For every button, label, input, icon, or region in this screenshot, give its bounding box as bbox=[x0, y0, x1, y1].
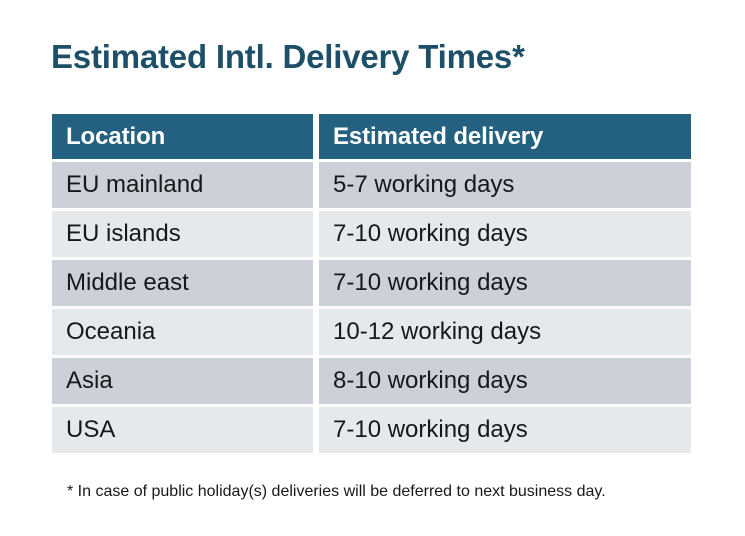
table-row: Oceania 10-12 working days bbox=[52, 309, 691, 355]
cell-location: Middle east bbox=[52, 260, 313, 306]
cell-location: USA bbox=[52, 407, 313, 453]
cell-estimated-delivery: 7-10 working days bbox=[319, 260, 691, 306]
column-header-estimated-delivery: Estimated delivery bbox=[319, 114, 691, 159]
cell-location: EU mainland bbox=[52, 162, 313, 208]
page-title: Estimated Intl. Delivery Times* bbox=[51, 36, 525, 78]
cell-estimated-delivery: 8-10 working days bbox=[319, 358, 691, 404]
cell-estimated-delivery: 7-10 working days bbox=[319, 211, 691, 257]
cell-location: EU islands bbox=[52, 211, 313, 257]
table-row: USA 7-10 working days bbox=[52, 407, 691, 453]
table-header-row: Location Estimated delivery bbox=[52, 114, 691, 159]
table-row: EU islands 7-10 working days bbox=[52, 211, 691, 257]
cell-location: Asia bbox=[52, 358, 313, 404]
table-row: Asia 8-10 working days bbox=[52, 358, 691, 404]
cell-estimated-delivery: 7-10 working days bbox=[319, 407, 691, 453]
column-header-location: Location bbox=[52, 114, 313, 159]
delivery-times-page: Estimated Intl. Delivery Times* Location… bbox=[0, 0, 745, 536]
delivery-times-table: Location Estimated delivery EU mainland … bbox=[52, 114, 691, 453]
footnote: * In case of public holiday(s) deliverie… bbox=[67, 481, 606, 503]
cell-location: Oceania bbox=[52, 309, 313, 355]
table-row: Middle east 7-10 working days bbox=[52, 260, 691, 306]
cell-estimated-delivery: 10-12 working days bbox=[319, 309, 691, 355]
table-row: EU mainland 5-7 working days bbox=[52, 162, 691, 208]
cell-estimated-delivery: 5-7 working days bbox=[319, 162, 691, 208]
